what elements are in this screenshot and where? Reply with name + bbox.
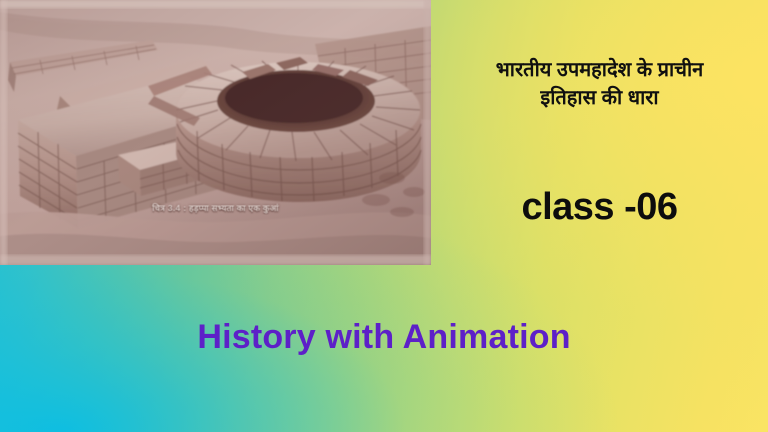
slide-title-line-2: इतिहास की धारा (439, 85, 760, 113)
photo-caption: चित्र 3.4 : हड़प्पा सभ्यता का एक कुआं (95, 203, 336, 214)
right-text-panel: भारतीय उपमहादेश के प्राचीन इतिहास की धार… (431, 0, 768, 265)
harappan-brick-well-photograph: चित्र 3.4 : हड़प्पा सभ्यता का एक कुआं (0, 0, 431, 265)
slide-title-hindi: भारतीय उपमहादेश के प्राचीन इतिहास की धार… (431, 57, 768, 112)
slide-canvas: चित्र 3.4 : हड़प्पा सभ्यता का एक कुआं भा… (0, 0, 768, 432)
channel-headline: History with Animation (0, 318, 768, 357)
class-label: class -06 (431, 186, 768, 229)
slide-title-line-1: भारतीय उपमहादेश के प्राचीन (439, 57, 760, 85)
well-illustration (0, 0, 431, 265)
